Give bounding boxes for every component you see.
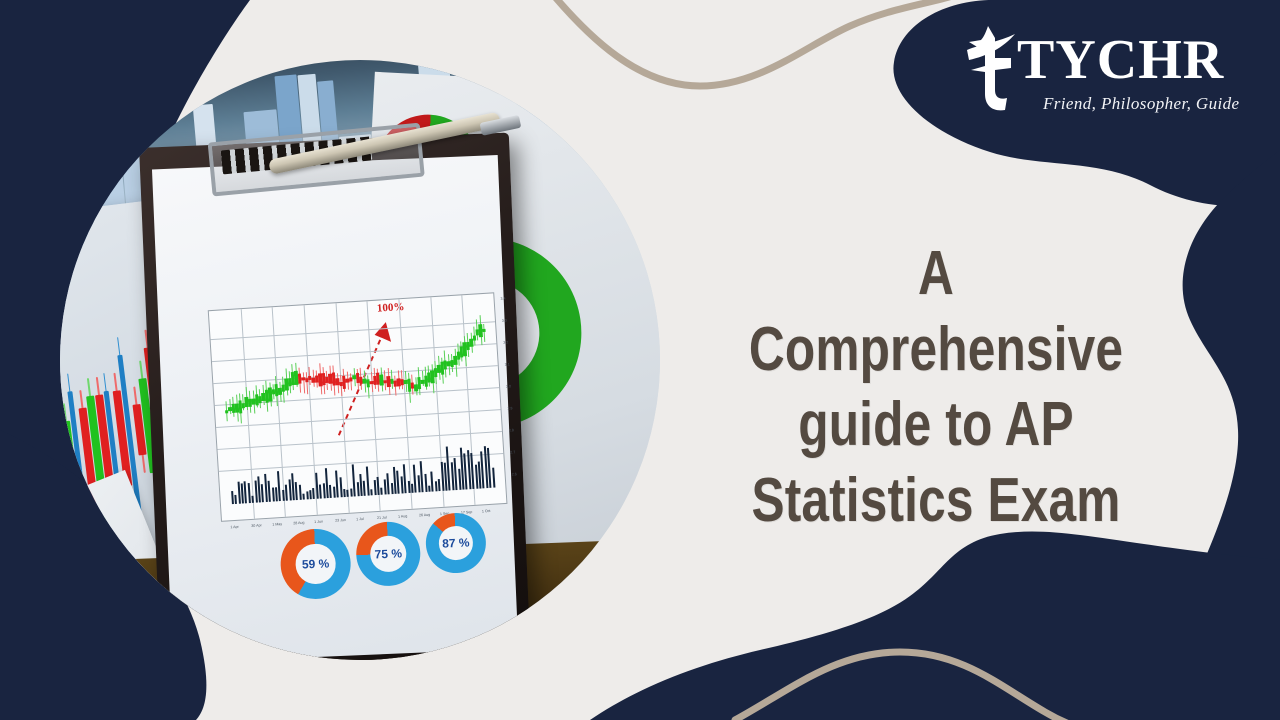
sheet-volume-bar	[36, 593, 51, 660]
logo-wordmark: TYCHR	[1017, 32, 1224, 88]
poster-canvas: 59 %7587 % 100% 3.43.33	[0, 0, 1280, 720]
tychr-logo[interactable]: TYCHR Friend, Philosopher, Guide	[955, 18, 1265, 133]
sheet-volume-bar	[117, 597, 129, 651]
sheet-volume-bar	[42, 563, 60, 660]
sheet-candle	[48, 452, 58, 492]
poster-bar	[41, 189, 63, 250]
sheet-candle-wick	[30, 429, 44, 532]
navy-blob-bottom-right	[590, 531, 1280, 720]
logo-tagline: Friend, Philosopher, Guide	[1043, 94, 1239, 114]
donut-label: 75 %	[370, 535, 407, 572]
sheet-candle	[35, 420, 54, 533]
chart-y-tick: 2.6	[512, 472, 517, 476]
sheet-volume-bar	[101, 630, 109, 657]
clipboard: 100% 3.43.33.23.13.02.92.82.72.61 Apr30 …	[139, 132, 531, 660]
sheet-volume-bar	[63, 570, 80, 660]
sheet-candle-wick	[47, 435, 58, 511]
blue-donut-75: 75 %	[355, 521, 422, 588]
page-title: A Comprehensive guide to AP Statistics E…	[728, 236, 1144, 539]
sheet-volume-bar	[56, 590, 70, 660]
blue-donut-87: 87 %	[425, 512, 487, 574]
blue-donut-row: 59 %75 %87 %	[152, 155, 518, 660]
sheet-volume-bar	[138, 605, 148, 645]
donut-label: 59 %	[295, 544, 336, 585]
sheet-candle-wick	[30, 446, 34, 524]
sheet-volume-bar	[84, 576, 99, 659]
sheet-volume-bar	[78, 609, 90, 660]
sheet-candle	[30, 447, 45, 515]
sheet-candle-wick	[34, 403, 54, 551]
clipboard-paper: 100% 3.43.33.23.13.02.92.82.72.61 Apr30 …	[152, 155, 518, 660]
sheet-volume-bar	[158, 602, 168, 640]
donut-label: 87 %	[438, 526, 473, 561]
blue-donut-59: 59 %	[279, 528, 352, 601]
sheet-volume-bar	[128, 607, 138, 648]
hero-photo: 59 %7587 % 100% 3.43.33	[30, 60, 690, 660]
sheet-candle	[30, 464, 35, 507]
sheet-volume-bar	[106, 594, 118, 654]
chart-y-tick: 2.7	[510, 450, 515, 454]
sheet-volume-bar	[30, 625, 31, 660]
sheet-volume-bar	[30, 591, 41, 660]
chart-y-tick: 2.8	[509, 428, 514, 432]
poster-bar	[30, 145, 45, 252]
